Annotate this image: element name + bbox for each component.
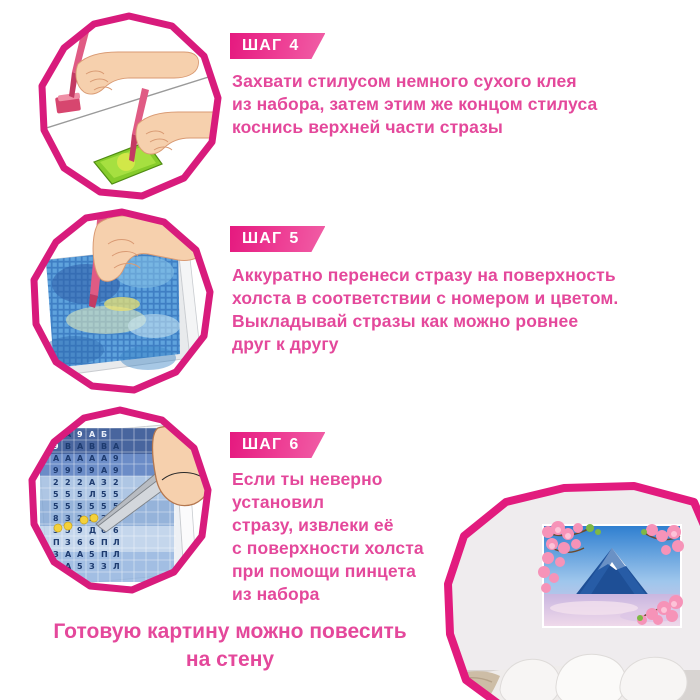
svg-text:2: 2 [65,478,71,487]
svg-text:5: 5 [53,502,59,511]
svg-text:5: 5 [77,490,83,499]
svg-text:П: П [53,538,60,547]
svg-text:2: 2 [77,478,83,487]
svg-text:5: 5 [89,502,95,511]
svg-text:А: А [65,550,72,559]
svg-text:5: 5 [77,562,83,571]
svg-text:Л: Л [113,538,120,547]
step-6-badge-number: 6 [289,436,299,454]
svg-text:А: А [77,550,84,559]
svg-text:А: А [89,430,96,439]
svg-text:6: 6 [89,538,95,547]
svg-text:9: 9 [77,526,83,535]
svg-text:9: 9 [77,430,83,439]
svg-text:А: А [77,442,84,451]
svg-text:5: 5 [65,490,71,499]
svg-text:А: А [77,454,84,463]
svg-text:8: 8 [53,514,59,523]
svg-text:Л: Л [113,562,120,571]
finished-painting-on-wall-illustration [444,484,700,700]
svg-text:5: 5 [65,502,71,511]
step-4-text: Захвати стилусом немного сухого клея из … [232,70,682,139]
svg-text:П: П [101,538,108,547]
svg-text:В: В [65,442,71,451]
svg-text:А: А [101,466,108,475]
svg-text:5: 5 [101,490,107,499]
step-6-badge-label: ШАГ [242,436,282,454]
svg-text:А: А [53,454,60,463]
svg-text:9: 9 [77,466,83,475]
stylus-picking-glue-illustration [34,12,224,202]
step-5-badge-number: 5 [289,230,299,248]
step-4-badge: ШАГ 4 [230,33,325,59]
step-5-badge: ШАГ 5 [230,226,325,252]
tweezers-removing-rhinestone-illustration: БА9 АБ 9ВА ВВА ААА АА9 999 9А9 222 АЗ2 5… [24,406,216,598]
svg-text:Б: Б [101,430,107,439]
svg-text:А: А [65,454,72,463]
infographic-page: ШАГ 4 Захвати стилусом немного сухого кл… [0,0,700,700]
svg-text:В: В [101,442,107,451]
svg-text:Д: Д [89,526,96,535]
svg-text:А: А [89,478,96,487]
svg-text:Л: Л [113,550,120,559]
svg-text:9: 9 [113,466,119,475]
svg-text:З: З [101,562,107,571]
svg-text:Л: Л [89,490,96,499]
svg-text:2: 2 [113,478,119,487]
step-5-badge-label: ШАГ [242,230,282,248]
step-4-badge-number: 4 [289,37,299,55]
step-6-badge: ШАГ 6 [230,432,325,458]
svg-text:5: 5 [101,502,107,511]
svg-text:А: А [89,454,96,463]
step-5-text: Аккуратно перенеси стразу на поверхность… [232,264,687,356]
placing-rhinestone-on-canvas-illustration [28,208,216,396]
svg-text:9: 9 [89,466,95,475]
svg-text:З: З [65,538,71,547]
svg-text:З: З [101,478,107,487]
svg-text:5: 5 [77,502,83,511]
step-4-badge-label: ШАГ [242,37,282,55]
svg-text:5: 5 [89,550,95,559]
svg-text:5: 5 [53,490,59,499]
svg-text:А: А [101,454,108,463]
step-6-text: Если ты неверно установил стразу, извлек… [232,468,472,606]
svg-text:9: 9 [113,454,119,463]
svg-text:9: 9 [65,466,71,475]
svg-text:9: 9 [53,466,59,475]
footer-caption: Готовую картину можно повесить на стену [18,618,442,674]
svg-text:5: 5 [113,490,119,499]
svg-text:6: 6 [113,526,119,535]
svg-text:2: 2 [53,478,59,487]
svg-text:З: З [89,562,95,571]
svg-text:П: П [101,550,108,559]
svg-text:6: 6 [77,538,83,547]
svg-text:А: А [113,442,120,451]
svg-text:В: В [89,442,95,451]
